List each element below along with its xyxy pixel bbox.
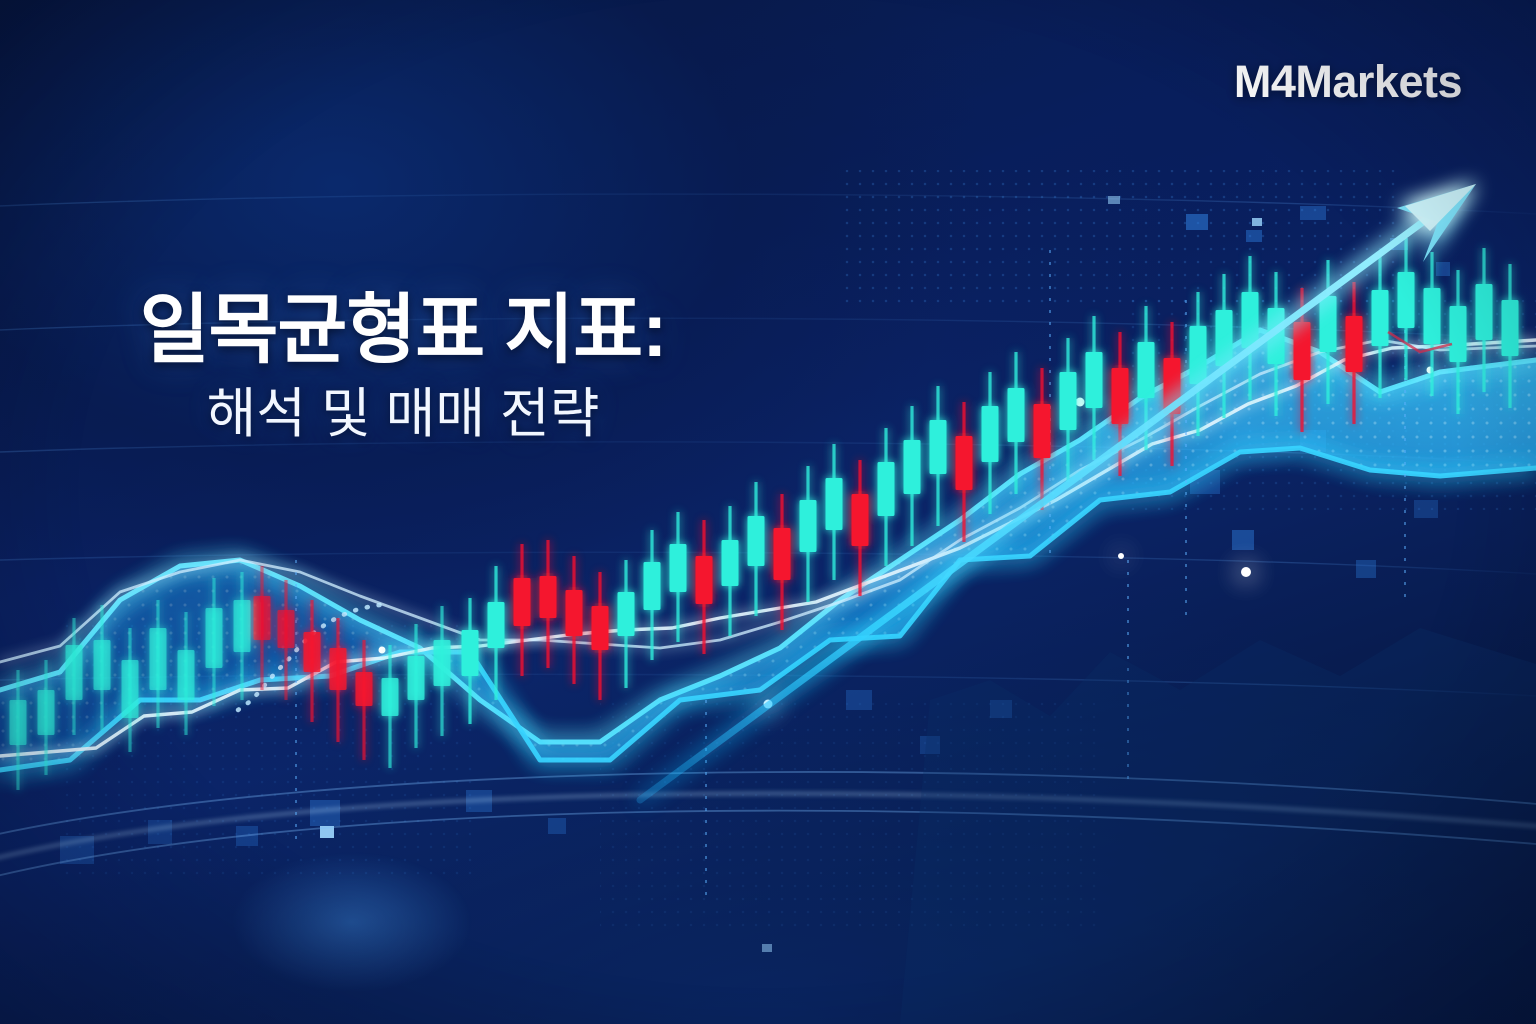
trend-arrow-layer <box>0 0 1536 1024</box>
up-arrow-icon <box>640 184 1476 800</box>
promo-banner: M4Markets 일목균형표 지표: 해석 및 매매 전략 <box>0 0 1536 1024</box>
red-accent-line <box>1388 332 1452 352</box>
